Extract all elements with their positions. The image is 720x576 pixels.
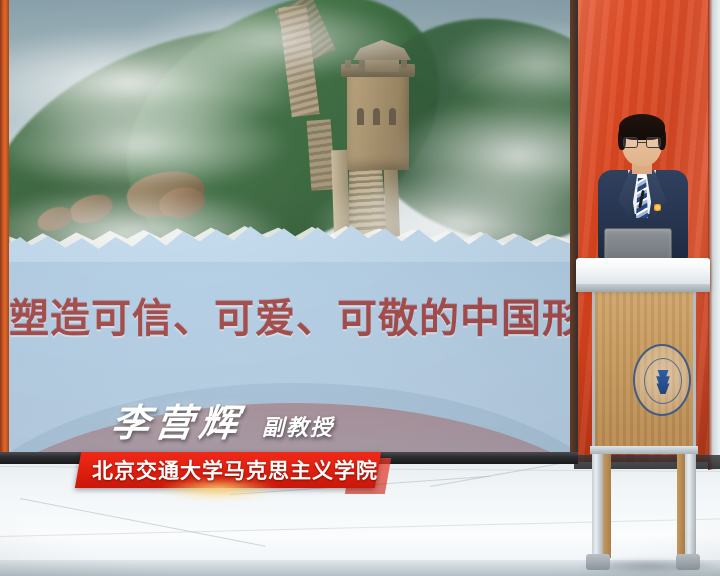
- studio-scene: 塑造可信、可爱、可敬的中国形象: [0, 0, 720, 576]
- affiliation-text: 北京交通大学马克思主义学院: [92, 456, 372, 486]
- great-wall-photo: [9, 0, 570, 262]
- lectern-foot: [586, 554, 610, 570]
- slide-surface: 塑造可信、可爱、可敬的中国形象: [9, 0, 570, 453]
- glasses-icon: [623, 137, 661, 148]
- speaker-name: 李营辉: [108, 392, 248, 447]
- watchtower-window: [373, 108, 380, 125]
- lower-third-overlay: 李营辉 副教授 北京交通大学马克思主义学院: [0, 392, 720, 512]
- watchtower-window: [389, 108, 396, 125]
- speaker-role: 副教授: [262, 410, 334, 442]
- slide-title: 塑造可信、可爱、可敬的中国形象: [9, 286, 570, 344]
- glasses-lens: [646, 137, 661, 148]
- lapel-pin: [654, 204, 661, 211]
- lectern-top-lip: [576, 284, 710, 292]
- glasses-lens: [623, 137, 638, 148]
- glasses-bridge: [638, 142, 646, 143]
- watchtower-window: [357, 108, 364, 125]
- screen-bezel-left: [0, 0, 9, 455]
- merlon: [401, 60, 407, 68]
- lectern-foot: [676, 554, 700, 570]
- mist-layer: [129, 0, 409, 80]
